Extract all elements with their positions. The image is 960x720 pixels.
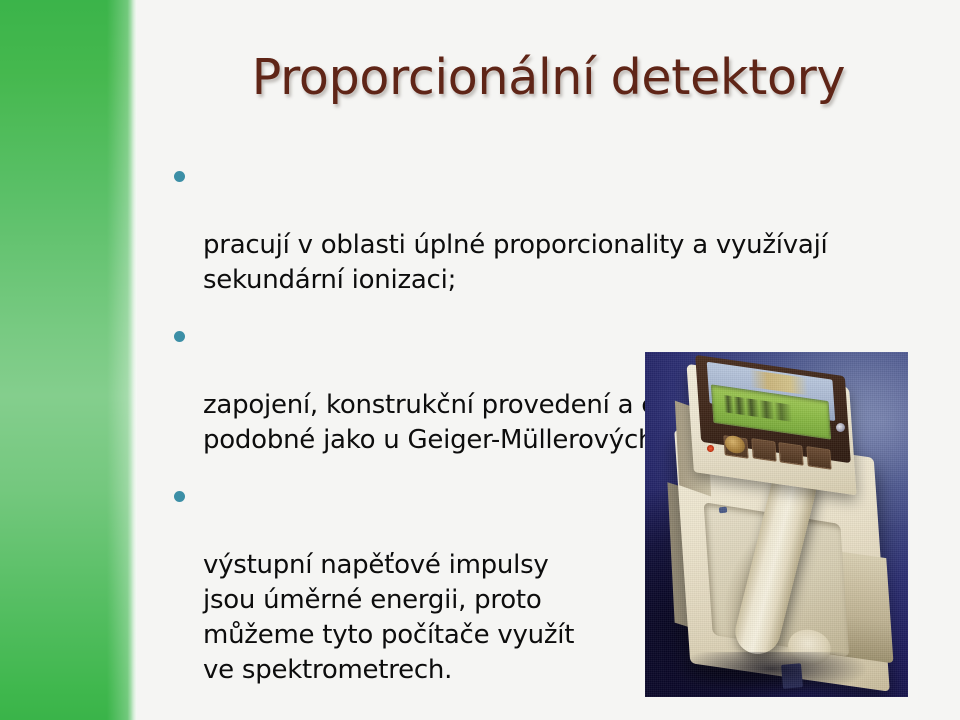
page-title: Proporcionální detektory <box>137 52 960 103</box>
green-band-fade-edge <box>131 0 143 720</box>
list-item: výstupní napěťové impulsy jsou úměrné en… <box>170 478 633 688</box>
bullet-dot-icon <box>174 171 185 182</box>
device-cast-shadow <box>677 652 866 693</box>
device-button-3 <box>778 442 804 466</box>
device-side-marking <box>718 507 726 513</box>
proportional-counter-photo <box>645 352 908 697</box>
device-button-4 <box>806 446 832 470</box>
list-item: pracují v oblasti úplné proporcionality … <box>170 158 940 298</box>
bullet-dot-icon <box>174 491 185 502</box>
decorative-green-band <box>0 0 137 720</box>
bullet-dot-icon <box>174 331 185 342</box>
list-item-text: pracují v oblasti úplné proporcionality … <box>203 230 828 295</box>
slide: Proporcionální detektory pracují v oblas… <box>0 0 960 720</box>
device-button-2 <box>751 438 777 462</box>
list-item-text: výstupní napěťové impulsy jsou úměrné en… <box>203 550 574 685</box>
device-radiation-symbol-icon <box>836 423 845 432</box>
device-status-led <box>707 445 714 452</box>
